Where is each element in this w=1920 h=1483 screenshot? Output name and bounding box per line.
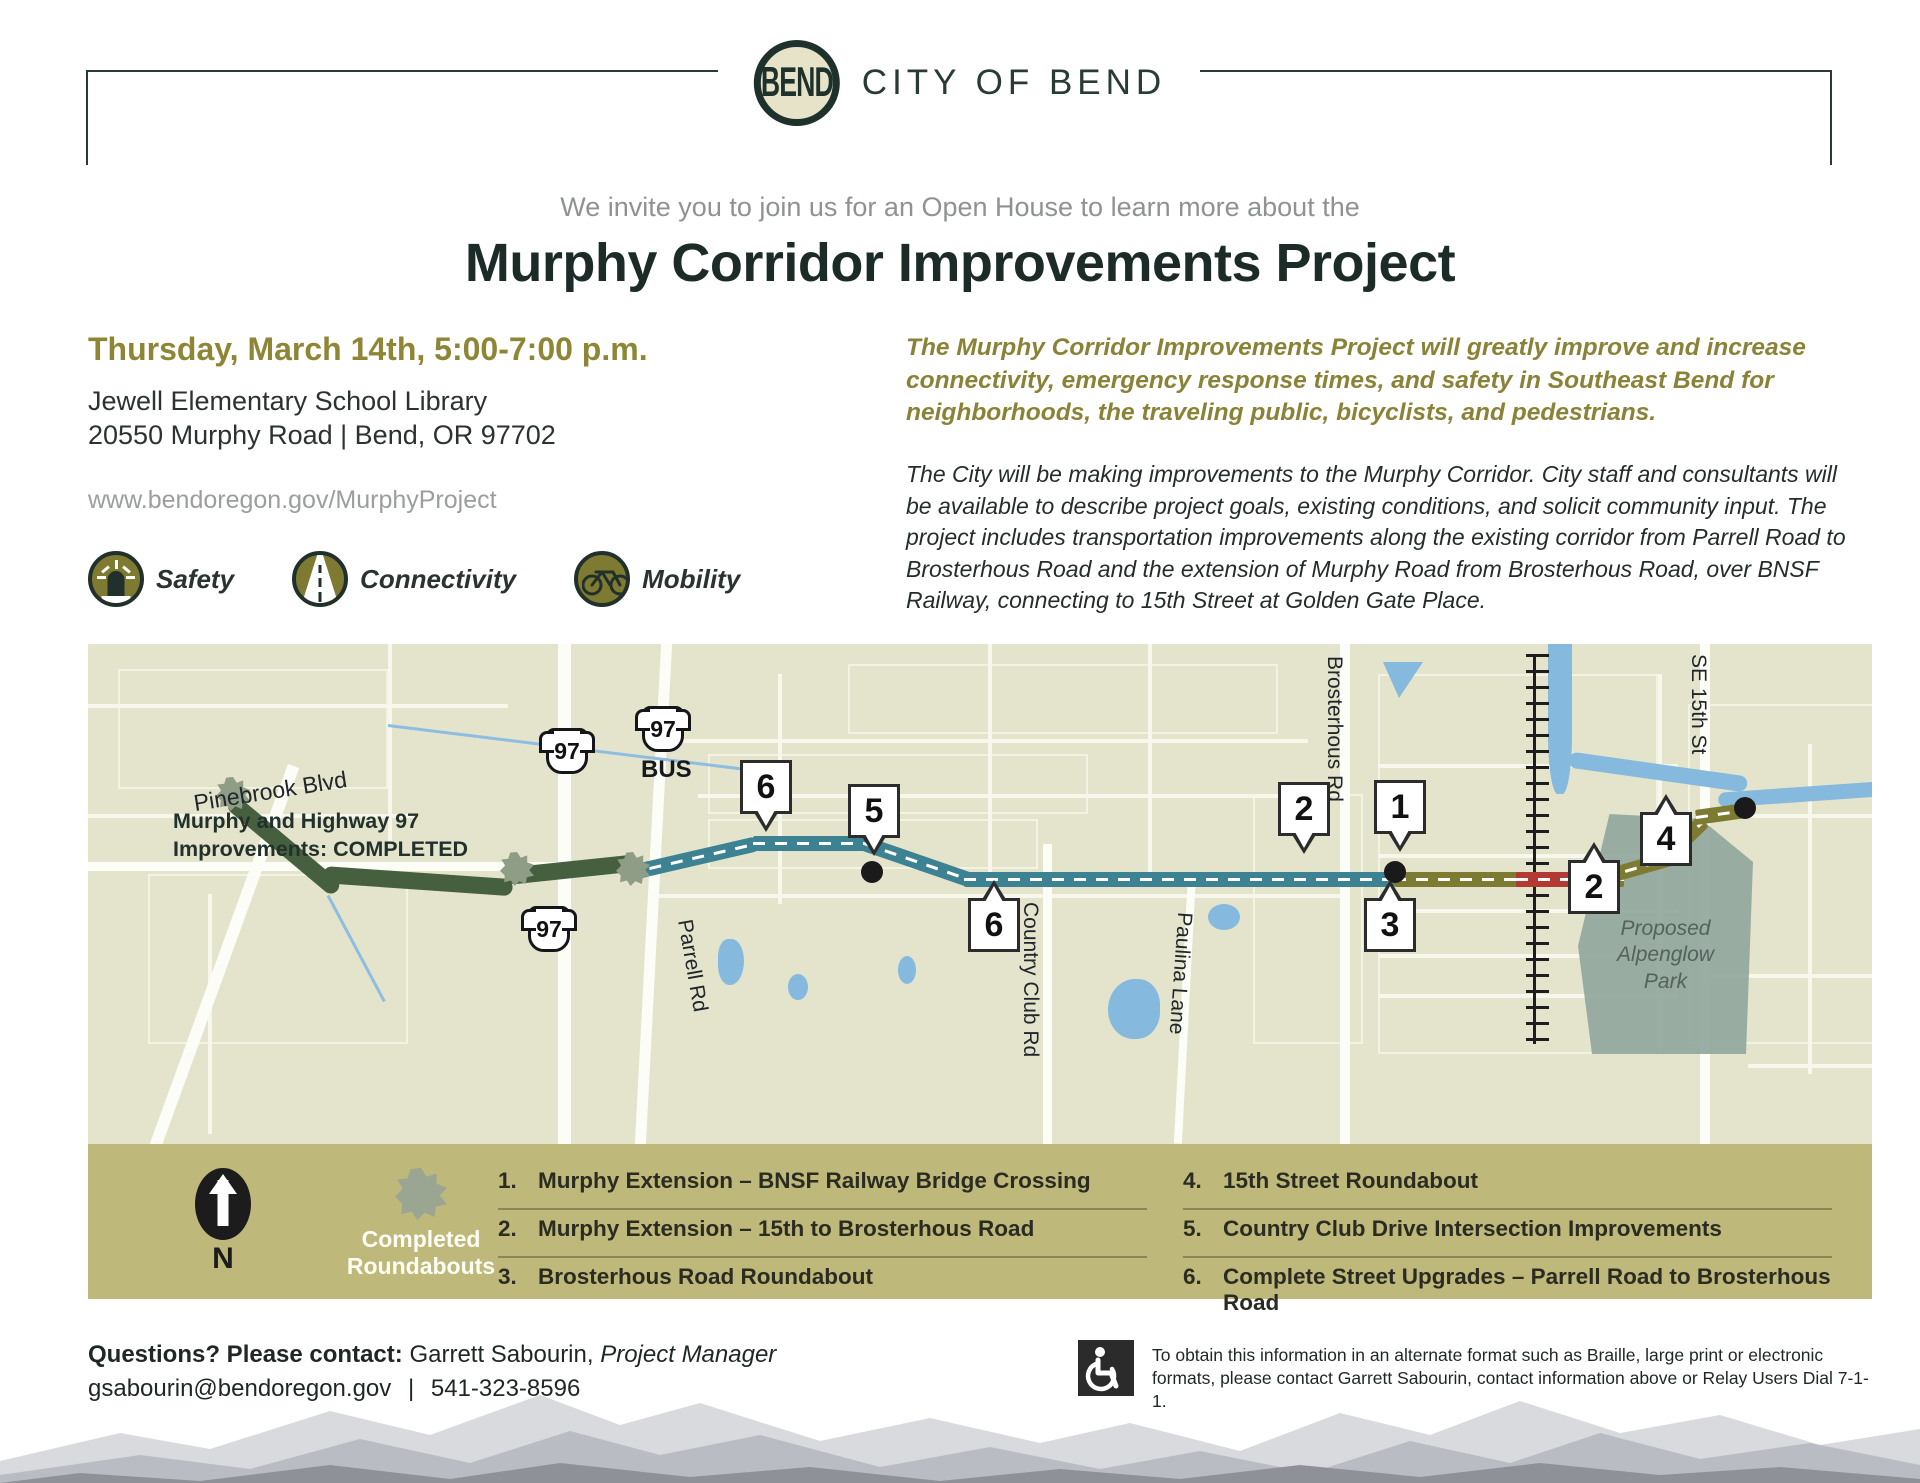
map-street [988, 644, 992, 884]
legend-column-left: 1. Murphy Extension – BNSF Railway Bridg… [498, 1162, 1147, 1287]
brand-lockup: BEND CITY OF BEND [754, 40, 1166, 126]
beacon-icon [88, 551, 144, 607]
bend-logo-text: BEND [761, 59, 833, 107]
map-callout-6a[interactable]: 6 [740, 760, 792, 814]
node-country-club [861, 861, 883, 883]
map-canvas: Proposed Alpenglow Park [88, 644, 1872, 1144]
legend-item-5: 5. Country Club Drive Intersection Impro… [1183, 1210, 1832, 1258]
legend-column-right: 4. 15th Street Roundabout 5. Country Clu… [1183, 1162, 1832, 1287]
legend-item-4: 4. 15th Street Roundabout [1183, 1162, 1832, 1210]
map-pond [1108, 979, 1160, 1039]
highway-shield-97-bus: 97 [642, 706, 684, 752]
street-label-15th: SE 15th St [1686, 654, 1710, 754]
map-callout-4[interactable]: 4 [1640, 812, 1692, 866]
map-street [648, 739, 1308, 743]
street-label-country-club: Country Club Rd [1018, 902, 1042, 1057]
pillar-label-safety: Safety [156, 564, 234, 595]
page-title: Murphy Corridor Improvements Project [0, 232, 1920, 294]
map-pond [898, 956, 916, 984]
description-body: The City will be making improvements to … [906, 459, 1868, 617]
project-url[interactable]: www.bendoregon.gov/MurphyProject [88, 486, 497, 515]
project-pillars: Safety Connectivity Mobility [88, 551, 798, 607]
map-callout-5[interactable]: 5 [848, 784, 900, 838]
bicycle-icon [574, 551, 630, 607]
project-map[interactable]: Proposed Alpenglow Park [88, 644, 1872, 1144]
legend-roundabout-key: Completed Roundabouts [346, 1168, 496, 1280]
map-parcel [118, 669, 388, 789]
road-icon [292, 551, 348, 607]
map-callout-2b[interactable]: 2 [1568, 860, 1620, 914]
map-parcel [848, 664, 1278, 734]
map-callout-1[interactable]: 1 [1374, 780, 1426, 834]
map-road-countryclub [1043, 844, 1052, 1144]
street-label-parrell: Parrell Rd [672, 918, 712, 1014]
map-callout-2a[interactable]: 2 [1278, 782, 1330, 836]
completed-note-line2: Improvements: COMPLETED [173, 836, 468, 864]
pillar-label-connectivity: Connectivity [360, 564, 516, 595]
node-15th-street [1734, 797, 1756, 819]
highway-shield-bus-label: BUS [641, 756, 692, 784]
map-road-hwy97 [558, 644, 571, 1144]
map-legend: N Completed Roundabouts 1. Murphy Extens… [88, 1144, 1872, 1299]
highway-shield-97-south: 97 [528, 906, 570, 952]
flyer-page: BEND CITY OF BEND We invite you to join … [0, 0, 1920, 1483]
venue-address: 20550 Murphy Road | Bend, OR 97702 [88, 419, 556, 453]
map-street [1148, 644, 1152, 884]
park-label: Proposed Alpenglow Park [1578, 916, 1753, 995]
roundabout-star-icon [395, 1168, 447, 1220]
roundabout-caption: Completed Roundabouts [346, 1226, 496, 1280]
legend-item-2: 2. Murphy Extension – 15th to Brosterhou… [498, 1210, 1147, 1258]
legend-items: 1. Murphy Extension – BNSF Railway Bridg… [498, 1162, 1832, 1287]
map-street [88, 704, 508, 708]
completed-note: Murphy and Highway 97 Improvements: COMP… [173, 808, 468, 864]
corridor-existing [753, 836, 868, 851]
highway-shield-97: 97 [546, 728, 588, 774]
map-pond [1208, 904, 1240, 930]
invite-line: We invite you to join us for an Open Hou… [0, 192, 1920, 223]
pillar-label-mobility: Mobility [642, 564, 740, 595]
legend-item-1: 1. Murphy Extension – BNSF Railway Bridg… [498, 1162, 1147, 1210]
pillar-safety: Safety [88, 551, 234, 607]
map-pond [788, 974, 808, 1000]
pillar-mobility: Mobility [574, 551, 740, 607]
street-label-paulina: Paulina Lane [1164, 911, 1196, 1035]
map-callout-6b[interactable]: 6 [968, 898, 1020, 952]
bnsf-railway-icon [1533, 654, 1536, 1044]
map-pond [718, 939, 744, 985]
mountain-silhouette-graphic [0, 1283, 1920, 1483]
event-date: Thursday, March 14th, 5:00-7:00 p.m. [88, 331, 648, 368]
north-arrow-icon: N [193, 1168, 253, 1276]
map-parcel [148, 874, 408, 1044]
corridor-existing [964, 872, 1394, 887]
map-river [1548, 644, 1572, 794]
pillar-connectivity: Connectivity [292, 551, 516, 607]
venue-name: Jewell Elementary School Library [88, 385, 556, 419]
org-name: CITY OF BEND [862, 63, 1166, 103]
event-venue-block: Jewell Elementary School Library 20550 M… [88, 385, 556, 453]
street-label-brosterhous: Brosterhous Rd [1322, 656, 1346, 802]
map-callout-3[interactable]: 3 [1364, 898, 1416, 952]
bend-logo-icon: BEND [754, 40, 840, 126]
description-lead: The Murphy Corridor Improvements Project… [906, 332, 1868, 430]
